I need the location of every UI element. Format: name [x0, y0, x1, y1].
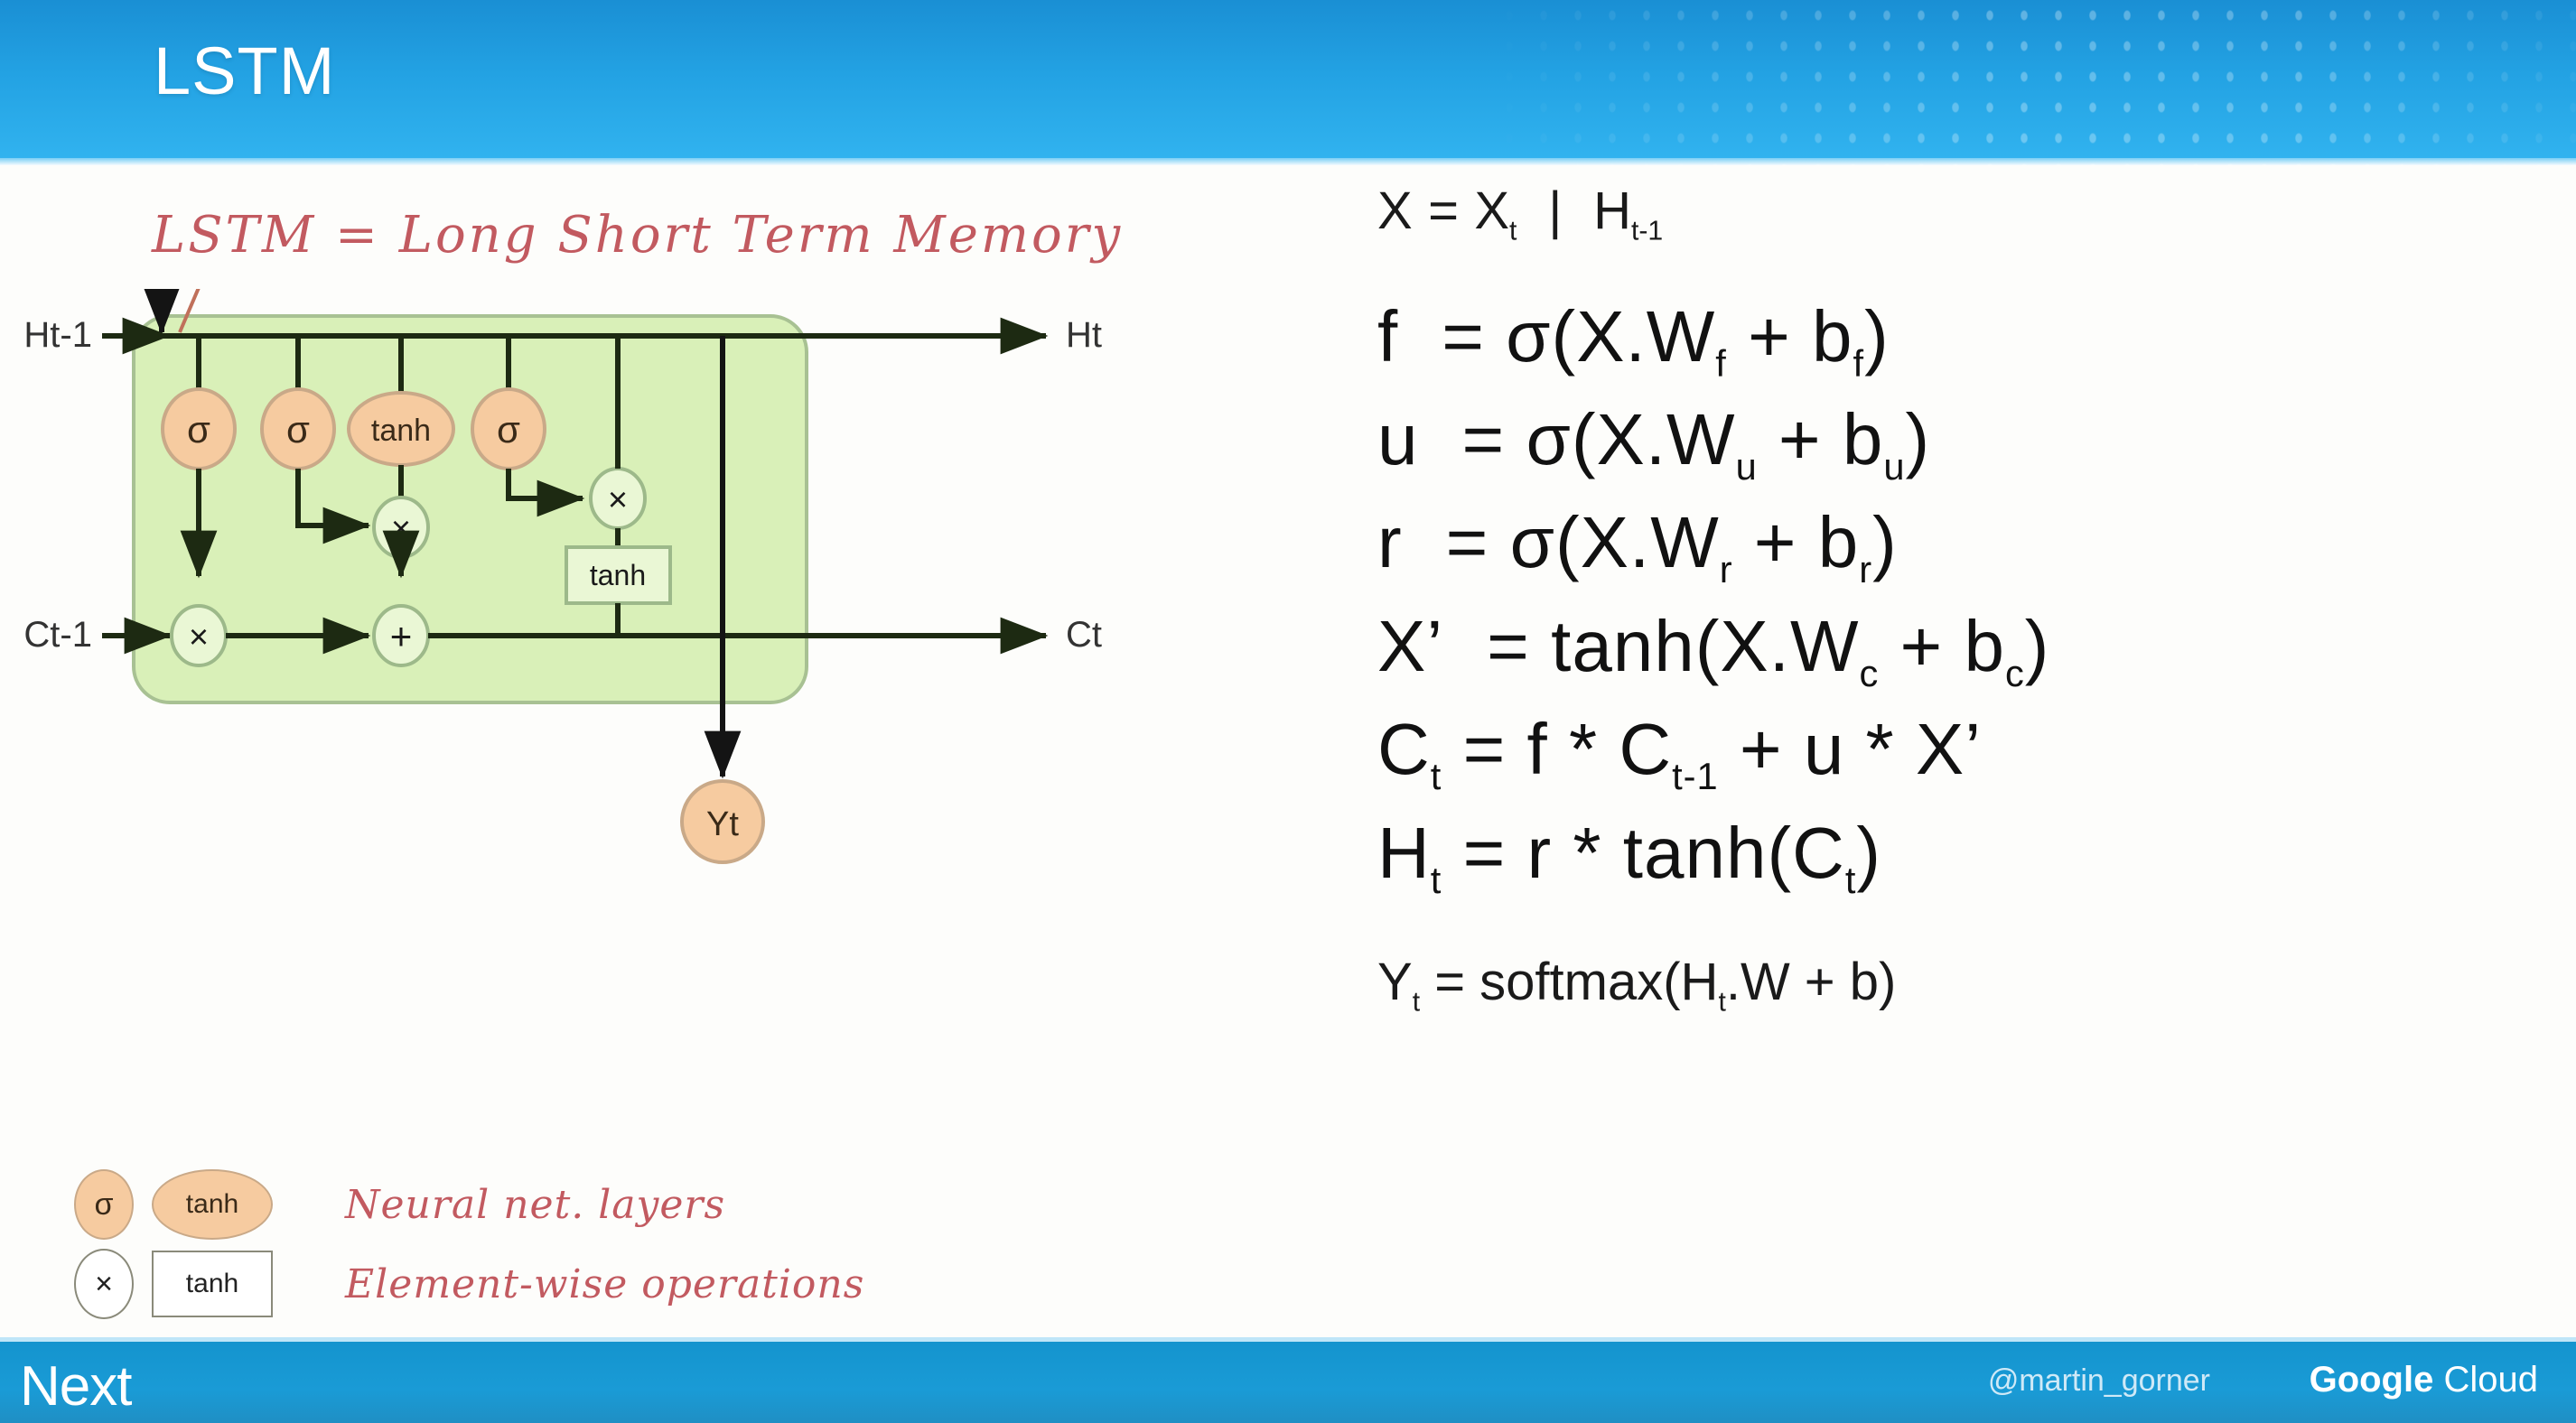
gate-sigma-update-label: σ: [286, 408, 310, 451]
eq-update-rhs: = σ(X.W: [1462, 399, 1736, 479]
eq-hidden-tail: ): [1856, 813, 1881, 893]
lstm-diagram-canvas: σ σ tanh × σ × tanh: [0, 289, 1310, 1192]
eq-result-b-sub: r: [1859, 548, 1872, 591]
legend-tanh-box-icon: tanh: [152, 1251, 273, 1317]
gate-tanh-candidate-label: tanh: [371, 414, 431, 448]
output-ht-label: Ht: [1066, 315, 1102, 355]
page-title: LSTM: [154, 33, 335, 109]
input-ht-minus-1-label: Ht-1: [23, 315, 92, 355]
eq-result-gate: r= σ(X.Wr + br): [1377, 506, 2552, 589]
eq-update-mid: + b: [1758, 399, 1884, 479]
op-add-cell-label: +: [390, 615, 413, 657]
slide-header: LSTM: [0, 0, 2576, 165]
legend-shapes-layers: σ tanh: [54, 1169, 345, 1240]
eq-cell-ct-sub: t: [1431, 755, 1442, 797]
eq-concatenation-definition: X=Xt|Ht-1: [1377, 181, 2552, 247]
eq-candidate-b-sub: c: [2005, 652, 2025, 694]
eq-cell-tail: + u * X’: [1719, 709, 1982, 789]
eq-cell-ctm1-sub: t-1: [1672, 755, 1719, 797]
next-brand-text: Next: [20, 1355, 131, 1418]
eq-update-b-sub: u: [1883, 445, 1905, 488]
eq-concat-ht: H: [1593, 181, 1631, 240]
op-multiply-update-label: ×: [391, 510, 411, 548]
output-yt-label: Yt: [706, 805, 739, 843]
eq-forget-mid: + b: [1727, 296, 1853, 377]
eq-concat-xt-sub: t: [1509, 217, 1517, 246]
legend-row-layers: σ tanh Neural net. layers: [54, 1165, 1048, 1244]
legend-row-operations: × tanh Element-wise operations: [54, 1244, 1048, 1324]
equations-panel: X=Xt|Ht-1 f= σ(X.Wf + bf) u= σ(X.Wu + bu…: [1377, 181, 2552, 1018]
google-wordmark: Google: [2310, 1360, 2434, 1400]
eq-candidate-lhs: X’: [1377, 606, 1443, 686]
legend-shapes-operations: × tanh: [54, 1249, 345, 1319]
eq-update-tail: ): [1906, 399, 1931, 479]
eq-result-w-sub: r: [1720, 548, 1733, 591]
eq-concat-ht-sub: t-1: [1631, 217, 1663, 246]
op-multiply-output-label: ×: [608, 481, 628, 519]
eq-softmax-mid: = softmax(H: [1420, 953, 1718, 1011]
subtitle-handwritten: LSTM = Long Short Term Memory: [152, 206, 1123, 265]
halftone-dot-pattern-icon: [1492, 0, 2576, 165]
eq-candidate-mid: + b: [1879, 606, 2005, 686]
gate-sigma-result-label: σ: [497, 408, 520, 451]
eq-update-gate: u= σ(X.Wu + bu): [1377, 403, 2552, 486]
eq-forget-tail: ): [1864, 296, 1890, 377]
eq-cell-ct: C: [1377, 709, 1431, 789]
eq-forget-w-sub: f: [1715, 342, 1727, 385]
eq-result-rhs: = σ(X.W: [1446, 502, 1720, 582]
eq-forget-lhs: f: [1377, 296, 1398, 377]
eq-result-tail: ): [1872, 502, 1898, 582]
eq-softmax: Yt = softmax(Ht.W + b): [1377, 952, 2552, 1018]
op-tanh-box-label: tanh: [590, 559, 646, 591]
next-brand-logo: Next: [20, 1354, 131, 1418]
eq-softmax-yt-sub: t: [1413, 988, 1420, 1018]
eq-hidden-mid: = r * tanh(C: [1442, 813, 1845, 893]
eq-forget-rhs: = σ(X.W: [1442, 296, 1715, 377]
legend-sigma-icon: σ: [74, 1169, 134, 1240]
slide-footer: Next @martin_gorner Google Cloud: [0, 1337, 2576, 1423]
eq-update-w-sub: u: [1736, 445, 1758, 488]
eq-candidate-w-sub: c: [1860, 652, 1880, 694]
eq-softmax-tail: .W + b): [1726, 953, 1897, 1011]
lstm-cell-rect: [134, 316, 807, 702]
output-ct-label: Ct: [1066, 615, 1102, 655]
eq-cell-state: Ct = f * Ct-1 + u * X’: [1377, 712, 2552, 795]
legend-label-layers: Neural net. layers: [345, 1182, 725, 1228]
eq-concat-lhs: X: [1377, 181, 1413, 240]
diagram-legend: σ tanh Neural net. layers × tanh Element…: [54, 1165, 1048, 1324]
header-gloss-divider: [0, 158, 2576, 165]
input-ct-minus-1-label: Ct-1: [23, 615, 92, 655]
eq-result-mid: + b: [1733, 502, 1860, 582]
eq-candidate-tail: ): [2025, 606, 2050, 686]
eq-cell-mid: = f * C: [1442, 709, 1672, 789]
eq-hidden-state: Ht = r * tanh(Ct): [1377, 816, 2552, 899]
google-cloud-logo: Google Cloud: [2310, 1360, 2538, 1400]
eq-concat-xt: X: [1474, 181, 1509, 240]
author-handle: @martin_gorner: [1988, 1363, 2210, 1399]
eq-hidden-ct-sub: t: [1845, 859, 1857, 901]
legend-label-operations: Element-wise operations: [345, 1261, 864, 1307]
eq-forget-gate: f= σ(X.Wf + bf): [1377, 300, 2552, 383]
eq-concat-bar: |: [1548, 181, 1562, 240]
eq-forget-b-sub: f: [1853, 342, 1865, 385]
eq-hidden-ht-sub: t: [1431, 859, 1442, 901]
eq-candidate: X’= tanh(X.Wc + bc): [1377, 609, 2552, 693]
cloud-wordmark: Cloud: [2443, 1360, 2538, 1400]
op-multiply-forget-label: ×: [189, 618, 209, 656]
eq-softmax-yt: Y: [1377, 953, 1413, 1011]
legend-tanh-ellipse-icon: tanh: [152, 1169, 273, 1240]
eq-result-lhs: r: [1377, 502, 1403, 582]
eq-update-lhs: u: [1377, 399, 1419, 479]
gate-sigma-forget-label: σ: [187, 408, 210, 451]
eq-hidden-ht: H: [1377, 813, 1431, 893]
eq-candidate-rhs: = tanh(X.W: [1487, 606, 1859, 686]
legend-multiply-icon: ×: [74, 1249, 134, 1319]
eq-softmax-ht-sub: t: [1718, 988, 1725, 1018]
